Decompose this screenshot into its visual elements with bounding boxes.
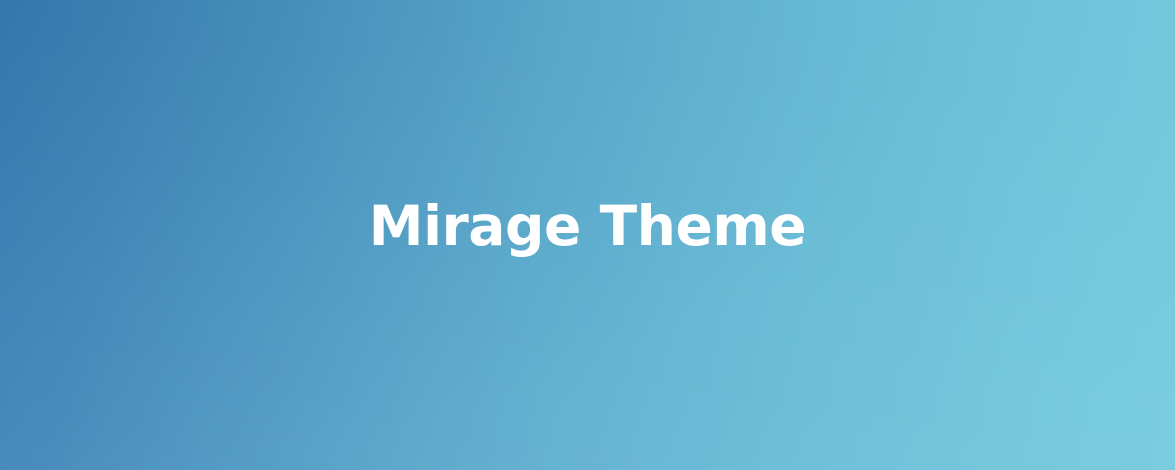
hero-content: Mirage Theme	[0, 0, 1175, 470]
hero-banner: Mirage Theme	[0, 0, 1175, 470]
page-title: Mirage Theme	[369, 198, 806, 272]
